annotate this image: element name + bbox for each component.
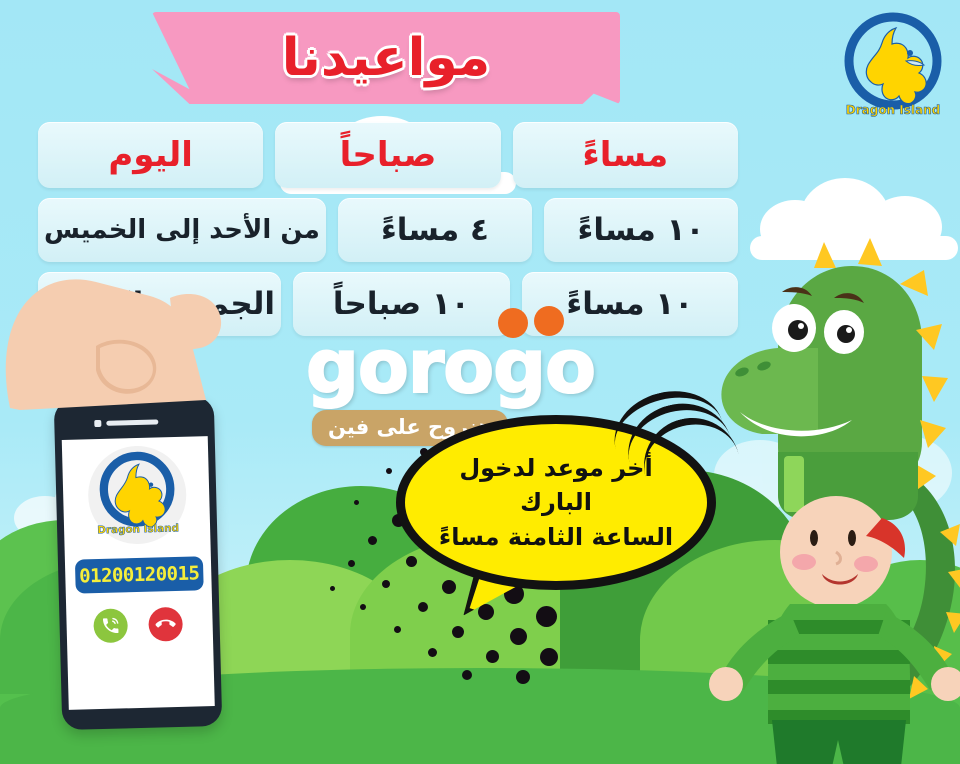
decline-call-icon[interactable] xyxy=(148,607,183,642)
dino-snout xyxy=(721,348,818,434)
banner-ribbon: مواعيدنا xyxy=(152,12,620,110)
boy-shorts xyxy=(772,720,906,764)
row1-morning-value: ٤ مساءً xyxy=(375,215,495,246)
phone-screen: Dragon Island 01200120015 xyxy=(62,436,215,710)
boy-hand-left xyxy=(709,667,743,701)
dino-mascot-and-boy xyxy=(686,180,960,764)
phone-mockup[interactable]: Dragon Island 01200120015 xyxy=(54,396,223,730)
phone-number[interactable]: 01200120015 xyxy=(75,556,204,593)
header-day-label: اليوم xyxy=(102,138,199,172)
header-cell-evening: مساءً xyxy=(513,122,738,188)
row1-morning-cell: ٤ مساءً xyxy=(338,198,532,262)
page-title: مواعيدنا xyxy=(152,12,620,104)
header-cell-morning: صباحاً xyxy=(275,122,500,188)
dragon-island-logo[interactable]: Dragon Island xyxy=(834,6,952,124)
row2-morning-value: ١٠ صباحاً xyxy=(327,289,476,320)
boy-blush-left xyxy=(792,554,816,570)
header-morning-label: صباحاً xyxy=(334,138,443,172)
notice-line-2: الساعة الثامنة مساءً xyxy=(423,520,689,554)
poster-canvas: مواعيدنا Dragon Island اليوم صباحاً مسا xyxy=(0,0,960,764)
costume-highlight xyxy=(784,456,804,512)
phone-logo-caption: Dragon Island xyxy=(97,522,179,536)
phone-camera-icon xyxy=(94,420,101,427)
accept-call-icon[interactable] xyxy=(93,608,128,643)
logo-caption: Dragon Island xyxy=(846,103,940,117)
row2-morning-cell: ١٠ صباحاً xyxy=(293,272,509,336)
phone-logo-icon: Dragon Island xyxy=(87,445,188,546)
hand-illustration xyxy=(0,170,260,410)
header-evening-label: مساءً xyxy=(576,138,674,172)
row2-evening-value: ١٠ مساءً xyxy=(560,289,699,320)
boy-blush-right xyxy=(854,556,878,572)
